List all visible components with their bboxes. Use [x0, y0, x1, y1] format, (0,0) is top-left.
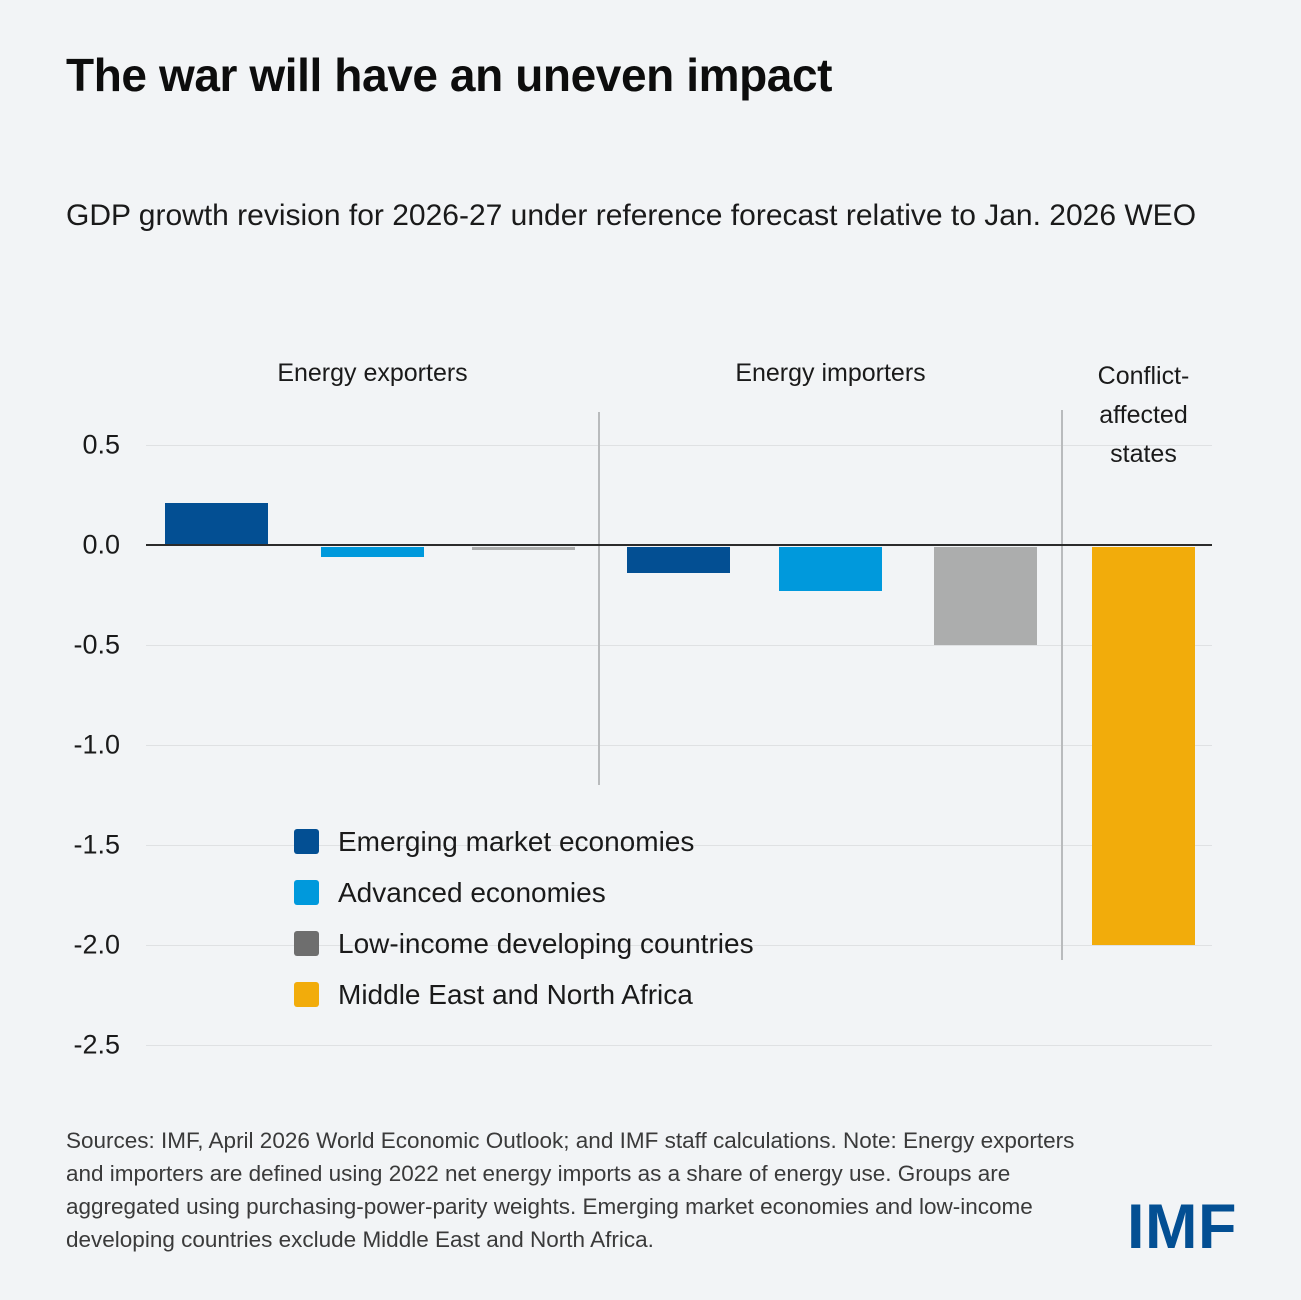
legend-swatch-icon — [294, 880, 319, 905]
bar-exporters-emerging-market — [165, 503, 268, 545]
legend-item-low-income-developing-countries[interactable]: Low-income developing countries — [294, 918, 754, 969]
group-label-energy-exporters: Energy exporters — [200, 354, 545, 393]
bar-chart: 0.5 0.0 -0.5 -1.0 -1.5 -2.0 -2.5 Energy … — [0, 0, 1301, 1300]
y-axis-tick-5: -2.0 — [10, 930, 120, 961]
legend-item-advanced-economies[interactable]: Advanced economies — [294, 867, 754, 918]
legend-label: Middle East and North Africa — [338, 979, 693, 1011]
gridline-0.5 — [146, 445, 1212, 446]
gridline--0.5 — [146, 645, 1212, 646]
y-axis-tick-1: 0.0 — [10, 530, 120, 561]
legend-item-emerging-market-economies[interactable]: Emerging market economies — [294, 816, 754, 867]
group-label-conflict-affected-states: Conflict- affected states — [1076, 357, 1211, 474]
imf-logo: IMF — [1127, 1196, 1237, 1259]
chart-legend: Emerging market economies Advanced econo… — [294, 816, 754, 1020]
infographic-page: The war will have an uneven impact GDP g… — [0, 0, 1301, 1300]
bar-importers-emerging-market — [627, 547, 730, 573]
legend-label: Low-income developing countries — [338, 928, 754, 960]
legend-label: Emerging market economies — [338, 826, 694, 858]
group-separator-exporters-importers — [598, 412, 600, 785]
group-label-line: states — [1076, 435, 1211, 474]
gridline--2.5 — [146, 1045, 1212, 1046]
y-axis-tick-0: 0.5 — [10, 430, 120, 461]
bar-conflict-affected-middle-east-north-africa — [1092, 547, 1195, 945]
legend-swatch-icon — [294, 829, 319, 854]
zero-baseline — [146, 544, 1212, 546]
legend-label: Advanced economies — [338, 877, 606, 909]
group-label-line: Energy exporters — [200, 354, 545, 393]
group-label-line: Energy importers — [658, 354, 1003, 393]
bar-importers-advanced — [779, 547, 882, 591]
group-label-line: affected — [1076, 396, 1211, 435]
bar-importers-low-income-developing — [934, 547, 1037, 645]
source-note: Sources: IMF, April 2026 World Economic … — [66, 1124, 1106, 1256]
legend-item-middle-east-and-north-africa[interactable]: Middle East and North Africa — [294, 969, 754, 1020]
y-axis-tick-4: -1.5 — [10, 830, 120, 861]
gridline--1.0 — [146, 745, 1212, 746]
y-axis-tick-3: -1.0 — [10, 730, 120, 761]
y-axis-tick-2: -0.5 — [10, 630, 120, 661]
group-label-line: Conflict- — [1076, 357, 1211, 396]
legend-swatch-icon — [294, 982, 319, 1007]
bar-exporters-low-income-developing — [472, 547, 575, 550]
y-axis-tick-6: -2.5 — [10, 1030, 120, 1061]
group-separator-importers-conflict — [1061, 410, 1063, 960]
legend-swatch-icon — [294, 931, 319, 956]
group-label-energy-importers: Energy importers — [658, 354, 1003, 393]
bar-exporters-advanced — [321, 547, 424, 557]
